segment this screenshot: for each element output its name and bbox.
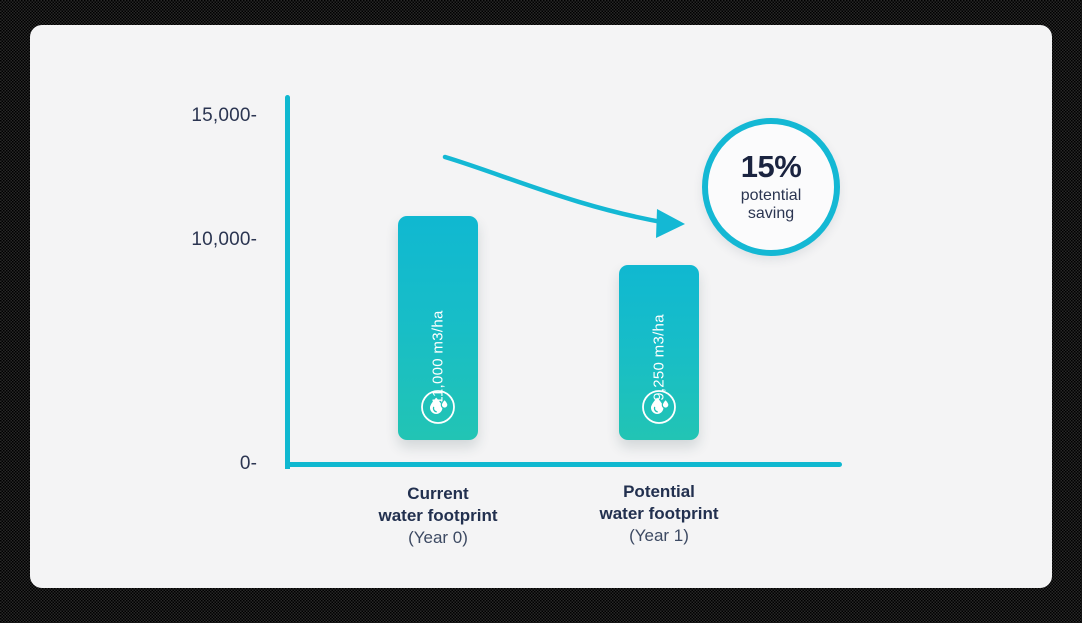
y-tick-15000-mark: -	[251, 105, 257, 126]
y-tick-10000: 10,000-	[167, 229, 257, 251]
y-tick-15000-label: 15,000	[191, 105, 250, 126]
x-label-current-line3: (Year 0)	[318, 527, 558, 549]
bar-potential-water-footprint[interactable]: 9,250 m3/ha	[619, 265, 699, 440]
y-axis-line	[285, 95, 290, 469]
saving-percent: 15%	[741, 151, 802, 182]
x-axis-line	[285, 462, 842, 467]
potential-saving-badge: 15% potential saving	[702, 118, 840, 256]
x-label-potential-line1: Potential	[539, 481, 779, 503]
x-label-potential-line3: (Year 1)	[539, 525, 779, 547]
x-label-current-line1: Current	[318, 483, 558, 505]
y-tick-0-mark: -	[251, 453, 257, 474]
x-label-current-water-footprint: Current water footprint (Year 0)	[318, 483, 558, 548]
x-label-potential-line2: water footprint	[539, 503, 779, 525]
saving-caption-line1: potential	[741, 187, 802, 204]
y-tick-0-label: 0	[240, 453, 251, 474]
bar-current-water-footprint[interactable]: 11,000 m3/ha	[398, 216, 478, 440]
y-tick-10000-label: 10,000	[191, 229, 250, 250]
chart-card: 15,000- 10,000- 0- 11,000 m3/ha 9,250 m3…	[30, 25, 1052, 588]
saving-caption: potential saving	[741, 187, 802, 223]
screenshot-stage: 15,000- 10,000- 0- 11,000 m3/ha 9,250 m3…	[0, 0, 1082, 623]
water-drop-icon	[419, 388, 457, 426]
decline-arrow-icon	[435, 135, 685, 245]
y-tick-10000-mark: -	[251, 229, 257, 250]
water-drop-icon	[640, 388, 678, 426]
y-tick-0: 0-	[167, 453, 257, 475]
y-tick-15000: 15,000-	[167, 105, 257, 127]
saving-caption-line2: saving	[748, 205, 794, 222]
x-label-potential-water-footprint: Potential water footprint (Year 1)	[539, 481, 779, 546]
x-label-current-line2: water footprint	[318, 505, 558, 527]
